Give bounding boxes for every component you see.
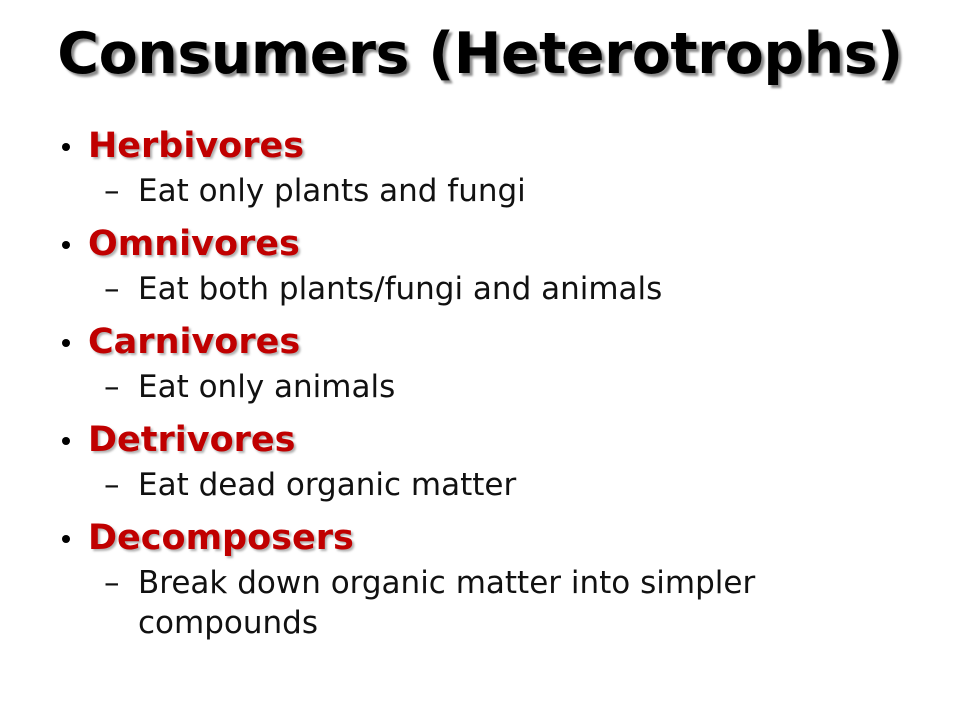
- en-dash-icon: –: [104, 563, 120, 603]
- sub-bullet-detrivores: – Eat dead organic matter: [56, 465, 898, 505]
- bullet-heading-label: Decomposers: [88, 518, 354, 558]
- en-dash-icon: –: [104, 367, 120, 407]
- presentation-slide: Consumers (Heterotrophs) Herbivores – Ea…: [0, 0, 960, 720]
- bullet-list: Herbivores – Eat only plants and fungi O…: [56, 122, 916, 643]
- sub-bullet-label: Eat only plants and fungi: [138, 171, 898, 211]
- bullet-heading-herbivores: Herbivores: [56, 122, 916, 170]
- sub-bullet-herbivores: – Eat only plants and fungi: [56, 171, 898, 211]
- sub-bullet-label: Break down organic matter into simpler c…: [138, 563, 898, 643]
- bullet-heading-label: Omnivores: [88, 224, 300, 264]
- bullet-heading-label: Herbivores: [88, 126, 304, 166]
- sub-bullet-omnivores: – Eat both plants/fungi and animals: [56, 269, 898, 309]
- bullet-heading-label: Carnivores: [88, 322, 300, 362]
- bullet-dot-icon: [62, 535, 70, 543]
- list-item: Omnivores – Eat both plants/fungi and an…: [56, 220, 916, 309]
- en-dash-icon: –: [104, 171, 120, 211]
- list-item: Herbivores – Eat only plants and fungi: [56, 122, 916, 211]
- sub-bullet-label: Eat only animals: [138, 367, 898, 407]
- bullet-heading-detrivores: Detrivores: [56, 416, 916, 464]
- bullet-heading-omnivores: Omnivores: [56, 220, 916, 268]
- slide-title: Consumers (Heterotrophs): [0, 22, 960, 86]
- bullet-heading-carnivores: Carnivores: [56, 318, 916, 366]
- bullet-heading-decomposers: Decomposers: [56, 514, 916, 562]
- list-item: Carnivores – Eat only animals: [56, 318, 916, 407]
- sub-bullet-label: Eat dead organic matter: [138, 465, 898, 505]
- sub-bullet-carnivores: – Eat only animals: [56, 367, 898, 407]
- sub-bullet-decomposers: – Break down organic matter into simpler…: [56, 563, 898, 643]
- list-item: Detrivores – Eat dead organic matter: [56, 416, 916, 505]
- bullet-dot-icon: [62, 339, 70, 347]
- en-dash-icon: –: [104, 269, 120, 309]
- bullet-dot-icon: [62, 143, 70, 151]
- en-dash-icon: –: [104, 465, 120, 505]
- sub-bullet-label: Eat both plants/fungi and animals: [138, 269, 898, 309]
- bullet-heading-label: Detrivores: [88, 420, 295, 460]
- bullet-dot-icon: [62, 437, 70, 445]
- list-item: Decomposers – Break down organic matter …: [56, 514, 916, 643]
- bullet-dot-icon: [62, 241, 70, 249]
